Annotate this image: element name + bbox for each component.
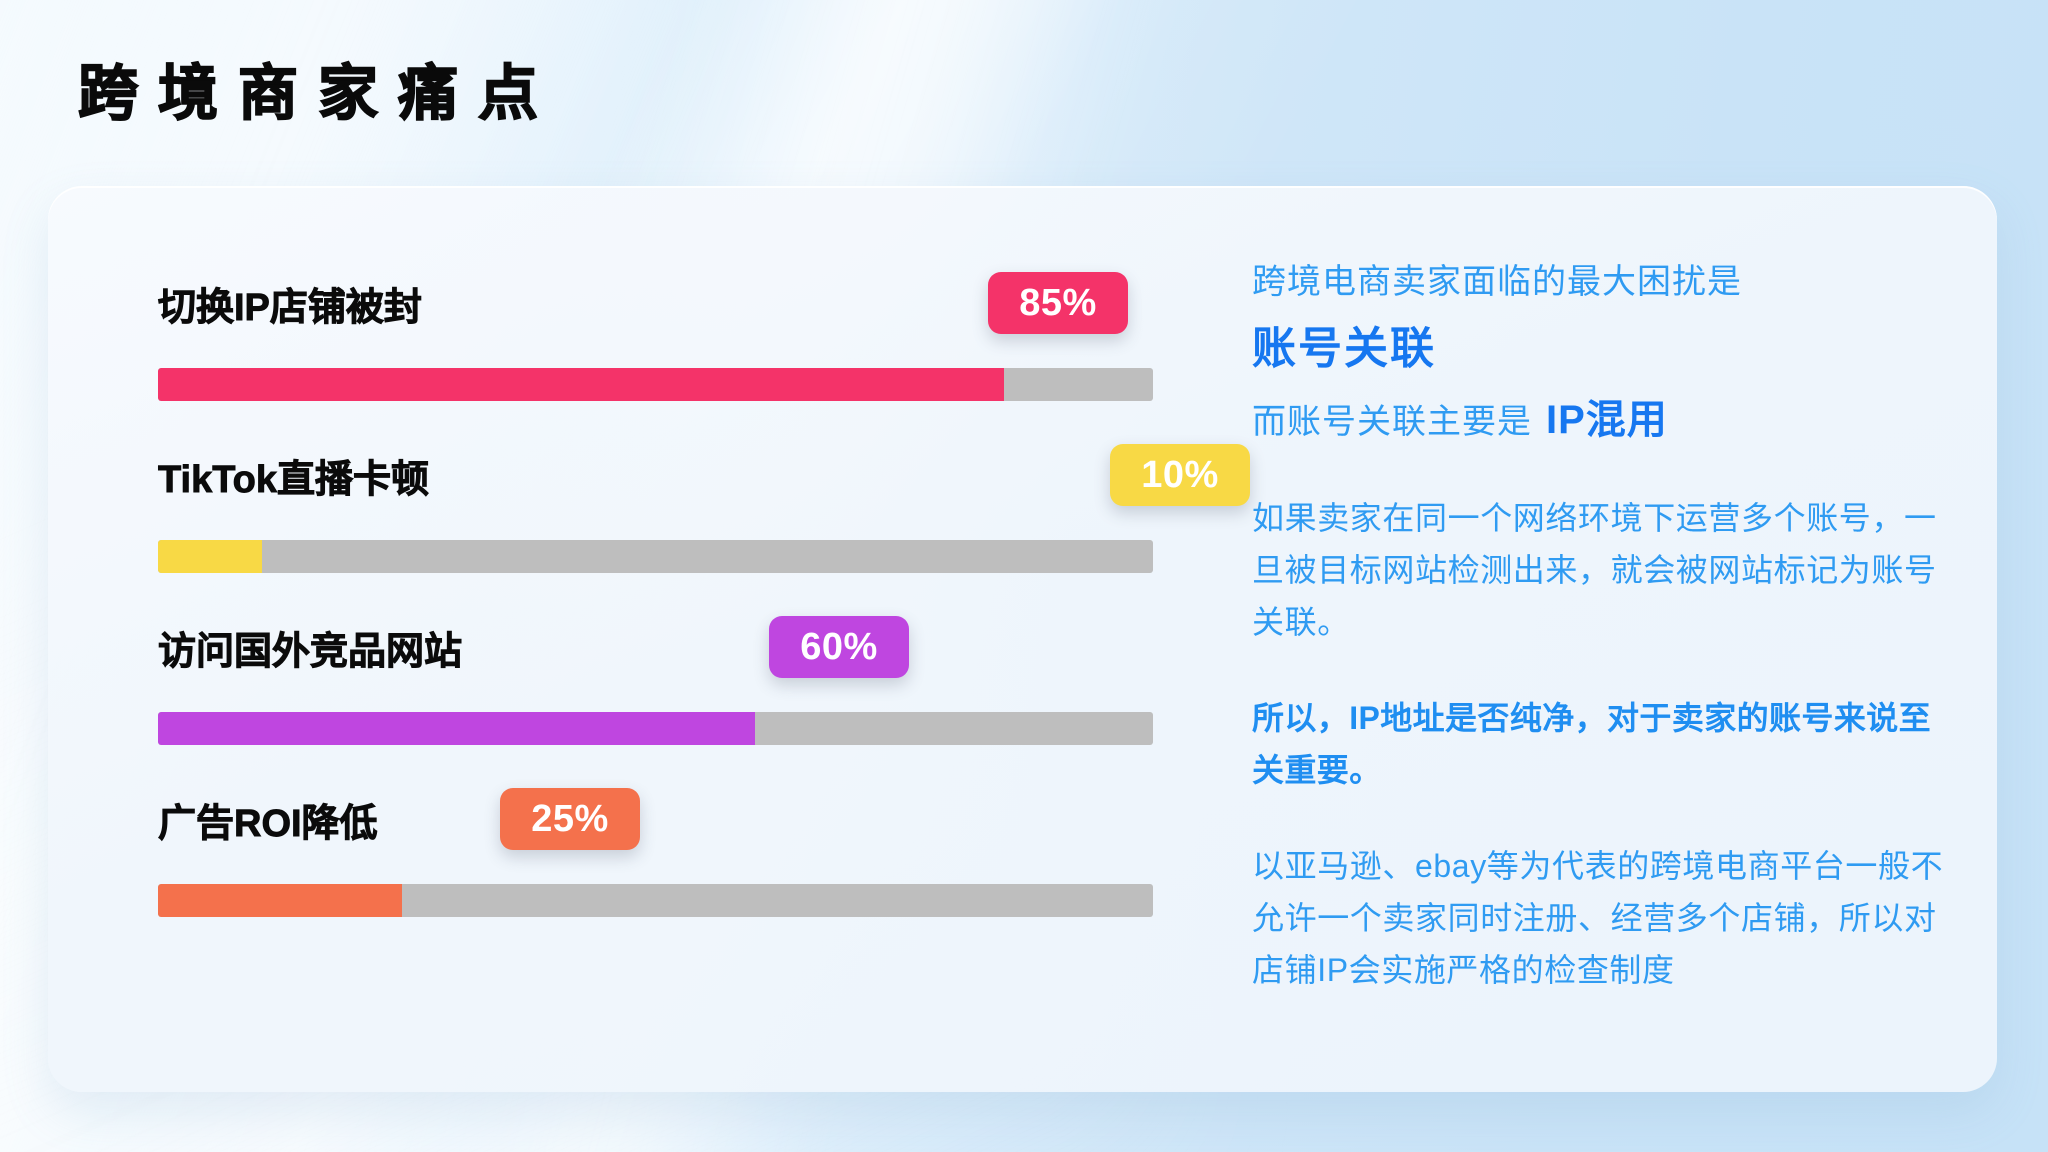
bar-label: 切换IP店铺被封: [158, 282, 422, 334]
bar-fill: [158, 884, 402, 917]
sub-text-highlight: IP混用: [1546, 394, 1668, 446]
bar-track: [158, 884, 1153, 917]
bar-value-badge: 25%: [500, 788, 640, 850]
bar-row: 广告ROI降低 25%: [110, 788, 1170, 960]
sub-text-prefix: 而账号关联主要是: [1252, 396, 1532, 448]
lead-text: 跨境电商卖家面临的最大困扰是: [1252, 256, 1962, 308]
sub-text: 而账号关联主要是IP混用: [1252, 394, 1962, 448]
bar-track: [158, 368, 1153, 401]
bar-label: 广告ROI降低: [158, 798, 378, 850]
bar-label: TikTok直播卡顿: [158, 454, 429, 506]
bar-row: 切换IP店铺被封 85%: [110, 272, 1170, 444]
hero-text: 账号关联: [1252, 320, 1962, 378]
bar-value-badge: 60%: [769, 616, 909, 678]
slide-canvas: 跨境商家痛点 切换IP店铺被封 85% TikTok直播卡顿 10% 访问国外竞…: [0, 0, 2048, 1152]
content-card: 切换IP店铺被封 85% TikTok直播卡顿 10% 访问国外竞品网站 60%: [48, 186, 1997, 1092]
bar-value-badge: 85%: [988, 272, 1128, 334]
bar-fill: [158, 540, 262, 573]
paragraph-1: 如果卖家在同一个网络环境下运营多个账号，一旦被目标网站检测出来，就会被网站标记为…: [1252, 492, 1962, 648]
page-title: 跨境商家痛点: [78, 64, 558, 124]
bar-row: TikTok直播卡顿 10%: [110, 444, 1170, 616]
explanation-panel: 跨境电商卖家面临的最大困扰是 账号关联 而账号关联主要是IP混用 如果卖家在同一…: [1252, 256, 1962, 996]
bar-fill: [158, 368, 1004, 401]
paragraph-2: 所以，IP地址是否纯净，对于卖家的账号来说至关重要。: [1252, 692, 1962, 796]
bar-value-badge: 10%: [1110, 444, 1250, 506]
bar-fill: [158, 712, 755, 745]
bar-label: 访问国外竞品网站: [158, 626, 462, 678]
paragraph-3: 以亚马逊、ebay等为代表的跨境电商平台一般不允许一个卖家同时注册、经营多个店铺…: [1252, 840, 1962, 996]
pain-point-bar-chart: 切换IP店铺被封 85% TikTok直播卡顿 10% 访问国外竞品网站 60%: [110, 272, 1170, 1012]
bar-row: 访问国外竞品网站 60%: [110, 616, 1170, 788]
bar-track: [158, 712, 1153, 745]
bar-track: [158, 540, 1153, 573]
